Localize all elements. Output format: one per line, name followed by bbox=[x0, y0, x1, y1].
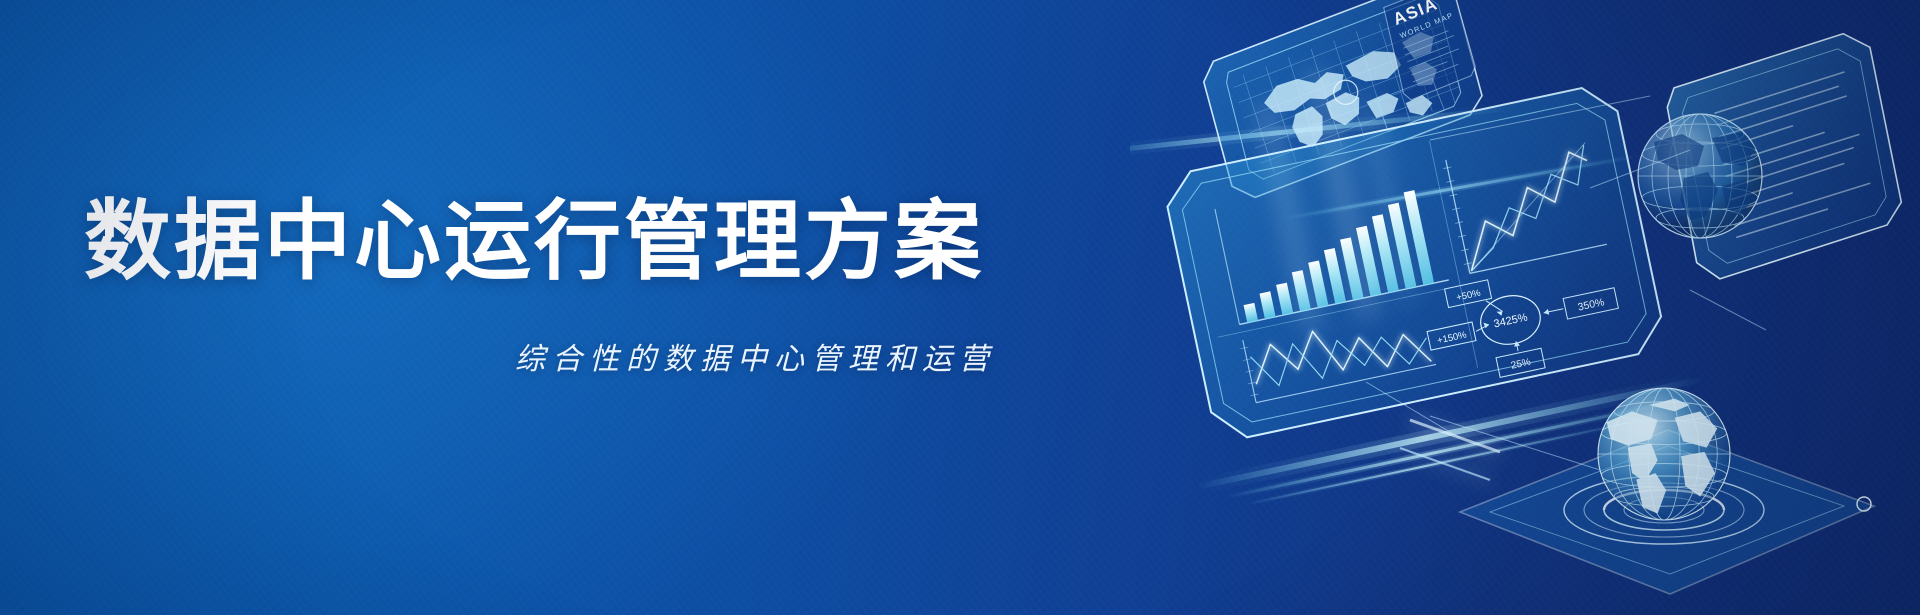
page-subtitle: 综合性的数据中心管理和运营 bbox=[84, 334, 1024, 378]
wireframe-globe bbox=[1638, 114, 1762, 238]
page-title: 数据中心运行管理方案 bbox=[84, 196, 1024, 288]
hologram-globe-platform bbox=[1400, 388, 1874, 594]
hologram-globe bbox=[1598, 388, 1730, 520]
hero-banner: 数据中心运行管理方案 综合性的数据中心管理和运营 bbox=[0, 0, 1920, 615]
headline-block: 数据中心运行管理方案 综合性的数据中心管理和运营 bbox=[0, 0, 1060, 615]
tech-illustration: ASIA WORLD MAP bbox=[1130, 0, 1920, 615]
